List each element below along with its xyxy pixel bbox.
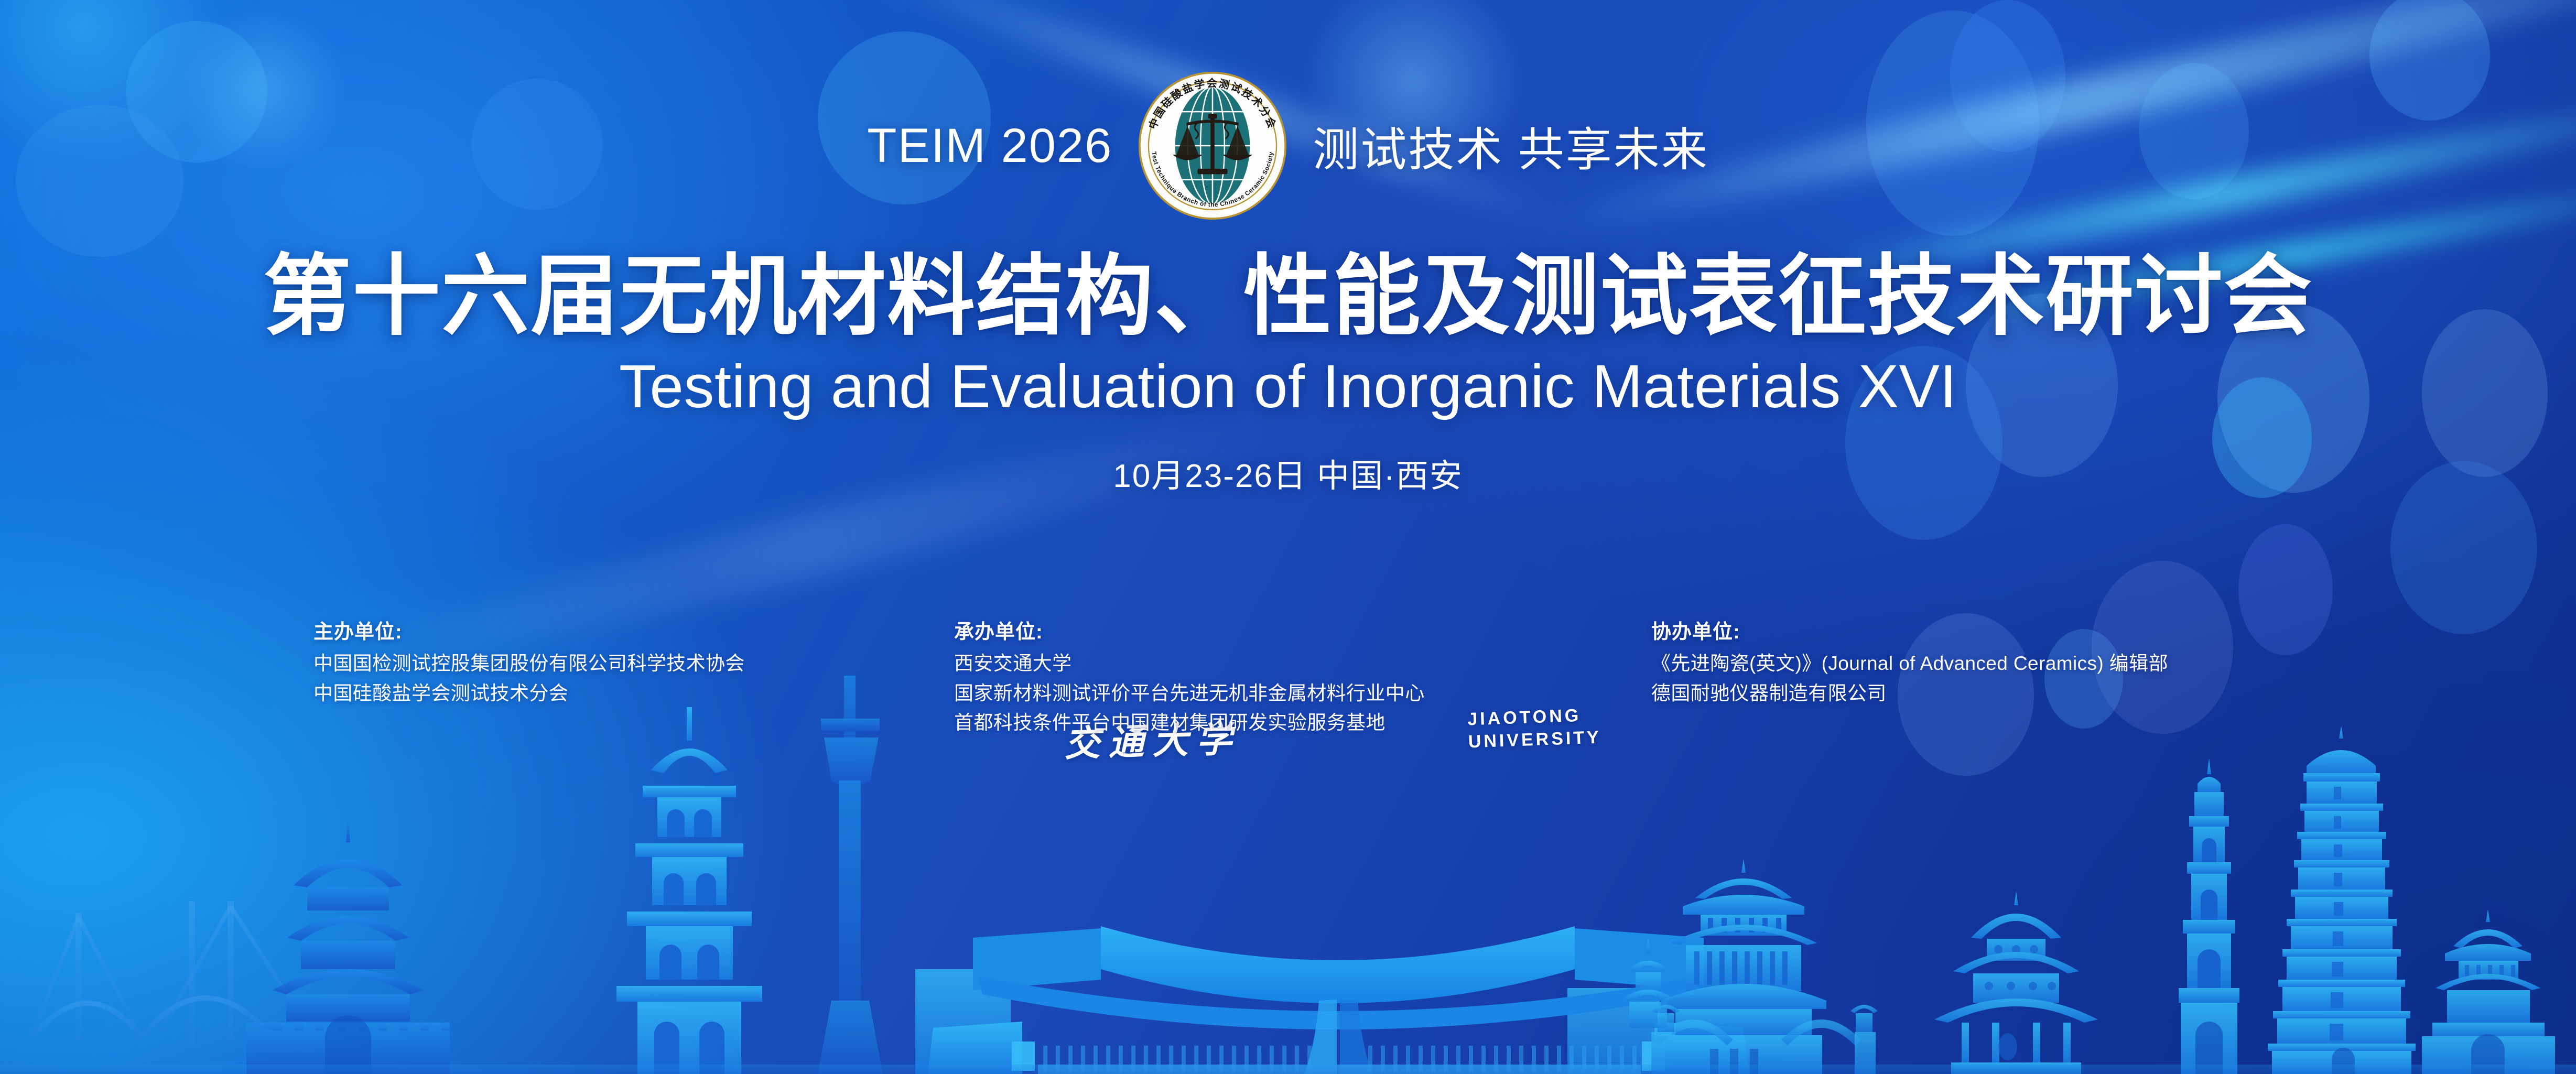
city-wall-gate-tower-icon	[246, 816, 450, 1074]
page-title-english: Testing and Evaluation of Inorganic Mate…	[0, 349, 2576, 425]
organizer-item: 西安交通大学	[954, 649, 1425, 678]
organizers-section: 主办单位: 中国国检测试控股集团股份有限公司科学技术协会 中国硅酸盐学会测试技术…	[0, 619, 2576, 771]
ceramic-society-logo-icon: 中国硅酸盐学会测试技术分会 Test Technique Branch of t…	[1138, 71, 1287, 221]
organizer-item: 首都科技条件平台中国建材集团研发实验服务基地	[954, 708, 1425, 737]
organizer-column-coorganizer: 协办单位: 《先进陶瓷(英文)》(Journal of Advanced Cer…	[1651, 619, 2168, 708]
date-and-location: 10月23-26日 中国·西安	[0, 449, 2576, 496]
event-code: TEIM 2026	[867, 118, 1112, 173]
conference-banner: 交通大学 JIAOTONG UNIVERSITY TEIM 2026	[0, 0, 2576, 1074]
organizer-heading: 承办单位:	[954, 619, 1425, 646]
banner-header-row: TEIM 2026	[0, 67, 2576, 224]
organizer-item: 中国国检测试控股集团股份有限公司科学技术协会	[313, 649, 745, 678]
famen-pagoda-icon	[2268, 726, 2416, 1074]
drum-tower-icon	[2422, 909, 2555, 1074]
organizer-column-organizer: 承办单位: 西安交通大学 国家新材料测试评价平台先进无机非金属材料行业中心 首都…	[954, 619, 1425, 737]
organizer-heading: 协办单位:	[1651, 619, 2168, 646]
organizer-heading: 主办单位:	[313, 619, 745, 646]
organizer-column-host: 主办单位: 中国国检测试控股集团股份有限公司科学技术协会 中国硅酸盐学会测试技术…	[313, 619, 745, 708]
organizer-item: 德国耐驰仪器制造有限公司	[1651, 679, 2168, 708]
event-tagline: 测试技术 共享未来	[1313, 113, 1708, 179]
page-title-chinese: 第十六届无机材料结构、性能及测试表征技术研讨会	[0, 246, 2576, 347]
title-block: 第十六届无机材料结构、性能及测试表征技术研讨会 Testing and Eval…	[0, 246, 2576, 496]
organizer-item: 《先进陶瓷(英文)》(Journal of Advanced Ceramics)…	[1651, 649, 2168, 678]
pavilion-icon	[1934, 892, 2098, 1074]
suspension-bridge-icon	[31, 901, 503, 1043]
minaret-tower-icon	[2179, 758, 2239, 1074]
organizer-item: 国家新材料测试评价平台先进无机非金属材料行业中心	[954, 679, 1425, 708]
organizer-item: 中国硅酸盐学会测试技术分会	[313, 679, 745, 708]
